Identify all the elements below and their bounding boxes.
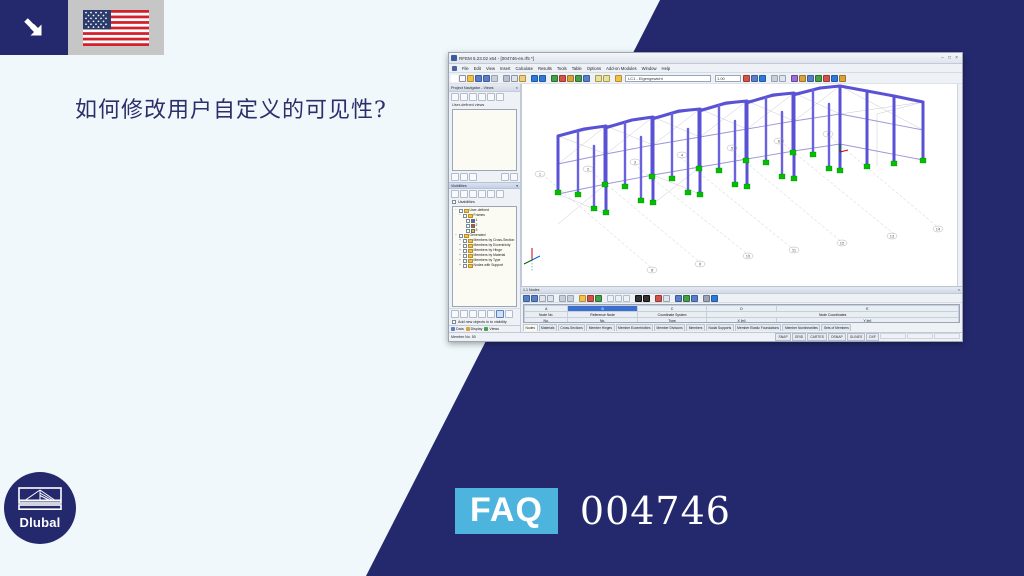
tree-checkbox[interactable] [463,244,467,248]
help-toolbar-icon[interactable] [839,75,846,82]
tree-checkbox[interactable] [459,234,463,238]
vis-invert-icon[interactable] [469,190,477,198]
table-help-icon[interactable] [711,295,718,302]
menu-item-options[interactable]: Options [587,66,601,71]
top-left-badges [0,0,164,55]
status-snap[interactable]: SNAP [775,333,790,341]
table-tab-member-nonlinearities[interactable]: Member Nonlinearities [782,324,820,331]
folder-icon [468,239,473,243]
us-flag-icon [83,10,149,46]
faq-number: 004746 [580,492,731,530]
nodes-table[interactable]: A B C D E Node No. Reference Node Coordi… [523,304,960,323]
table-tab-members[interactable]: Members [686,324,705,331]
folder-icon [468,259,473,263]
calculate-icon[interactable] [771,75,778,82]
table-subheader: No. No. Type X [m] Y [m] [525,318,959,324]
faq-footer: FAQ 004746 [455,488,731,534]
dlubal-logo: Dlubal [4,472,76,544]
printout-icon[interactable] [779,75,786,82]
pan-icon[interactable] [575,75,582,82]
page-title: 如何修改用户自定义的可见性? [75,92,387,124]
status-cartes[interactable]: CARTES [807,333,827,341]
menu-item-view[interactable]: View [486,66,495,71]
view-save-icon[interactable] [487,93,495,101]
rotate-icon[interactable] [583,75,590,82]
table-panel-close-icon[interactable]: × [958,288,960,292]
tree-checkbox[interactable] [463,264,467,268]
navigator-title: Project Navigator - Views [451,86,494,90]
table-settings-icon[interactable] [703,295,710,302]
visibilities-title: Visibilities [451,184,467,188]
table-filter-icon[interactable] [547,295,554,302]
table-tab-nodal-supports[interactable]: Nodal Supports [706,324,734,331]
navigator-header: Project Navigator - Views × [449,84,520,92]
tree-checkbox[interactable] [466,229,470,233]
svg-text:11: 11 [792,248,797,253]
snap-icon[interactable] [815,75,822,82]
vis-tree-add-icon[interactable] [451,310,459,318]
maximize-icon[interactable]: □ [948,56,951,61]
vis-tree-copy-icon[interactable] [478,310,486,318]
svg-text:2: 2 [587,167,590,172]
table-tab-member-elastic-foundations[interactable]: Member Elastic Foundations [735,324,782,331]
new-file-icon[interactable] [459,75,466,82]
table-cut-icon[interactable] [559,295,566,302]
status-bar: Member No. 50 SNAP GRID CARTES OSNAP GLI… [449,332,962,341]
add-objects-label: Add new objects in to visibility [458,320,507,324]
arrow-badge [0,0,68,55]
zoom-out-icon[interactable] [559,75,566,82]
view-dup-icon[interactable] [460,173,468,181]
frame-model-3d: 1 2 3 4 5 6 7 8 9 10 11 12 13 [522,84,962,284]
svg-text:3: 3 [634,160,637,165]
table-text-icon[interactable] [635,295,642,302]
vis-show-all-icon[interactable] [451,190,459,198]
navigator-tab-label: Data [456,327,464,331]
navigator-tab-label: Display [471,327,483,331]
svg-text:5: 5 [731,146,734,151]
zoom-in-icon[interactable] [551,75,558,82]
status-pad-2 [907,333,933,339]
model-viewport[interactable]: 1 2 3 4 5 6 7 8 9 10 11 12 13 [521,84,962,286]
status-grid[interactable]: GRID [792,333,806,341]
tree-expander-icon[interactable]: − [458,213,462,218]
results-icon[interactable] [743,75,750,82]
status-glines[interactable]: GLINES [847,333,865,341]
table-panel-title: 1.1 Nodes [523,288,539,292]
table-tab-materials[interactable]: Materials [539,324,557,331]
table-sel-a-icon[interactable] [607,295,614,302]
copy-icon[interactable] [511,75,518,82]
menu-item-edit[interactable]: Edit [474,66,481,71]
views-listbox-toolbar[interactable] [449,172,520,182]
menu-item-addon-modules[interactable]: Add-on Modules [606,66,637,71]
svg-text:12: 12 [840,241,845,246]
vis-tree-edit-icon[interactable] [460,310,468,318]
bridge-truss-icon [18,487,62,513]
table-refresh-icon[interactable] [595,295,602,302]
layers-icon[interactable] [799,75,806,82]
vis-edit-icon[interactable] [487,190,495,198]
loadcase-select[interactable]: LC1 - Eigengewicht [625,75,711,82]
tree-checkbox[interactable] [463,214,467,218]
table-tab-sets-of-members[interactable]: Sets of Members [821,324,851,331]
subheader-cell: Y [m] [776,318,958,324]
table-num-icon[interactable] [643,295,650,302]
table-tabs[interactable]: Nodes Materials Cross-Sections Member Hi… [521,324,962,332]
faq-badge: FAQ [455,488,558,534]
folder-icon [468,264,473,268]
menu-item-window[interactable]: Window [642,66,657,71]
svg-text:1: 1 [539,172,542,177]
cut-icon[interactable] [503,75,510,82]
info-icon[interactable] [831,75,838,82]
window-titlebar: RFEM 5.23.02 x64 - [004746-en.rf5 *] − □… [449,53,962,64]
svg-text:8: 8 [651,268,654,273]
view-more-icon[interactable] [496,93,504,101]
project-navigator[interactable]: Project Navigator - Views × User-defined… [449,84,521,332]
svg-text:10: 10 [746,254,751,259]
view-up-icon[interactable] [501,173,509,181]
views-listbox[interactable] [452,109,517,171]
grid-icon[interactable] [807,75,814,82]
status-dxf[interactable]: DXF [866,333,879,341]
usabilities-checkbox-row[interactable]: Usabilities [449,199,520,205]
save-icon[interactable] [475,75,482,82]
zoom-window-icon[interactable] [567,75,574,82]
vis-delete-icon[interactable] [496,190,504,198]
svg-text:4: 4 [681,153,684,158]
viewport-vertical-scrollbar[interactable] [957,84,962,286]
menu-item-tools[interactable]: Tools [557,66,567,71]
vis-tree-del-icon[interactable] [469,310,477,318]
status-pad-3 [934,333,960,339]
navigator-tabs[interactable]: Data Display Views [449,325,520,332]
table-sel-c-icon[interactable] [623,295,630,302]
tree-checkbox[interactable] [463,239,467,243]
rfem-application-window[interactable]: RFEM 5.23.02 x64 - [004746-en.rf5 *] − □… [448,52,963,342]
navigator-view-toolbar[interactable] [449,92,520,102]
data-tab-icon [451,327,455,331]
tree-item[interactable]: + Nodes with Support [454,263,515,268]
view-add-icon[interactable] [451,173,459,181]
loadcase-icon[interactable] [615,75,622,82]
arrow-down-right-icon [17,11,51,45]
menu-item-results[interactable]: Results [538,66,552,71]
table-panel-header: 1.1 Nodes × [521,287,962,294]
table-tab-cross-sections[interactable]: Cross-Sections [558,324,585,331]
folder-icon [468,254,473,258]
open-file-icon[interactable] [467,75,474,82]
view-rename-icon[interactable] [469,173,477,181]
folder-icon [464,234,469,238]
tree-checkbox[interactable] [466,224,470,228]
table-tab-member-hinges[interactable]: Member Hinges [586,324,614,331]
views-section-label: User-defined views [449,102,520,108]
table-delete-row-icon[interactable] [587,295,594,302]
view-new-icon[interactable] [451,93,459,101]
print-icon[interactable] [491,75,498,82]
usabilities-checkbox[interactable] [452,200,456,204]
usabilities-label: Usabilities [458,200,475,204]
table-panel[interactable]: 1.1 Nodes × [521,286,962,332]
subheader-cell: X [m] [707,318,776,324]
tree-checkbox[interactable] [463,249,467,253]
color-swatch-icon [471,229,475,233]
table-excel-icon[interactable] [683,295,690,302]
logo-text: Dlubal [20,515,61,530]
table-tab-member-divisions[interactable]: Member Divisions [654,324,685,331]
tree-checkbox[interactable] [463,254,467,258]
vis-new-icon[interactable] [478,190,486,198]
menu-item-insert[interactable]: Insert [500,66,510,71]
tree-checkbox[interactable] [466,219,470,223]
table-prev-icon[interactable] [531,295,538,302]
menu-item-calculate[interactable]: Calculate [515,66,532,71]
undo-icon[interactable] [531,75,538,82]
add-objects-checkbox[interactable] [452,320,456,324]
visibility-tree-toolbar[interactable] [449,308,520,319]
visibilities-collapse-icon[interactable]: ▾ [516,184,518,188]
dimension-icon[interactable] [823,75,830,82]
vis-tree-active-icon[interactable] [496,310,504,318]
navigator-tab-data[interactable]: Data [451,327,464,331]
menu-item-file[interactable]: File [462,66,469,71]
folder-icon [464,209,469,213]
table-export-icon[interactable] [655,295,662,302]
table-bold-icon[interactable] [539,295,546,302]
view-apply-icon[interactable] [478,93,486,101]
table-grid2-icon[interactable] [691,295,698,302]
table-toolbar[interactable] [521,294,962,303]
menu-item-table[interactable]: Table [572,66,582,71]
visibilities-toolbar[interactable] [449,189,520,199]
svg-text:6: 6 [778,139,781,144]
navigator-tab-display[interactable]: Display [466,327,483,331]
text-icon[interactable] [759,75,766,82]
subheader-cell: No. [525,318,568,324]
status-left-text: Member No. 50 [451,335,476,339]
folder-icon [468,249,473,253]
zoom-level-select[interactable]: 1.00 [715,75,741,82]
close-icon[interactable]: × [955,56,958,61]
window-body: Project Navigator - Views × User-defined… [449,84,962,332]
visibility-tree[interactable]: − User-defined − Frames 1 [452,206,517,307]
table-tab-member-eccentricities[interactable]: Member Eccentricities [616,324,653,331]
svg-text:14: 14 [936,227,941,232]
table-sel-b-icon[interactable] [615,295,622,302]
color-swatch-icon [471,224,475,228]
navigator-close-icon[interactable]: × [516,85,518,90]
redo-icon[interactable] [539,75,546,82]
menu-item-help[interactable]: Help [662,66,671,71]
table-copy-icon[interactable] [567,295,574,302]
visibilities-header: Visibilities ▾ [449,182,520,189]
subheader-cell: No. [568,318,637,324]
display-tab-icon [466,327,470,331]
deformation-icon[interactable] [751,75,758,82]
vis-tree-group-icon[interactable] [487,310,495,318]
svg-text:9: 9 [699,262,702,267]
view-delete-icon[interactable] [469,93,477,101]
tree-expander-icon[interactable]: + [458,263,462,268]
status-pad-1 [880,333,906,339]
window-title: RFEM 5.23.02 x64 - [004746-en.rf5 *] [459,56,534,61]
tree-checkbox[interactable] [463,259,467,263]
render-wire-icon[interactable] [603,75,610,82]
folder-icon [468,214,473,218]
status-osnap[interactable]: OSNAP [828,333,846,341]
menu-bar[interactable]: File Edit View Insert Calculate Results … [449,64,962,73]
view-edit-icon[interactable] [460,93,468,101]
flag-badge [68,0,164,55]
slide-canvas: 如何修改用户自定义的可见性? Dlubal FAQ 004746 RFEM 5.… [0,0,1024,576]
table-tab-nodes[interactable]: Nodes [523,324,538,331]
navigator-tab-views[interactable]: Views [484,327,499,331]
table-insert-row-icon[interactable] [579,295,586,302]
table-calc-icon[interactable] [675,295,682,302]
visibility-icon[interactable] [791,75,798,82]
status-toggles[interactable]: SNAP GRID CARTES OSNAP GLINES DXF [775,333,960,341]
paste-icon[interactable] [519,75,526,82]
table-print-icon[interactable] [663,295,670,302]
rfem-app-icon [451,55,457,61]
work-area: 1 2 3 4 5 6 7 8 9 10 11 12 13 [521,84,962,332]
save-all-icon[interactable] [483,75,490,82]
menu-grip-icon [452,66,457,71]
main-toolbar[interactable]: LC1 - Eigengewicht 1.00 [449,73,962,84]
subheader-cell: Type [637,318,706,324]
folder-icon [468,244,473,248]
vis-tree-more-icon[interactable] [505,310,513,318]
navigator-tab-label: Views [489,327,499,331]
render-solid-icon[interactable] [595,75,602,82]
color-swatch-icon [471,219,475,223]
tree-item-label: Nodes with Support [474,263,504,268]
views-tab-icon [484,327,488,331]
svg-text:13: 13 [890,234,895,239]
vis-hide-icon[interactable] [460,190,468,198]
minimize-icon[interactable]: − [941,56,944,61]
view-down-icon[interactable] [510,173,518,181]
table-first-icon[interactable] [523,295,530,302]
window-controls[interactable]: − □ × [941,56,960,61]
tree-checkbox[interactable] [459,209,463,213]
